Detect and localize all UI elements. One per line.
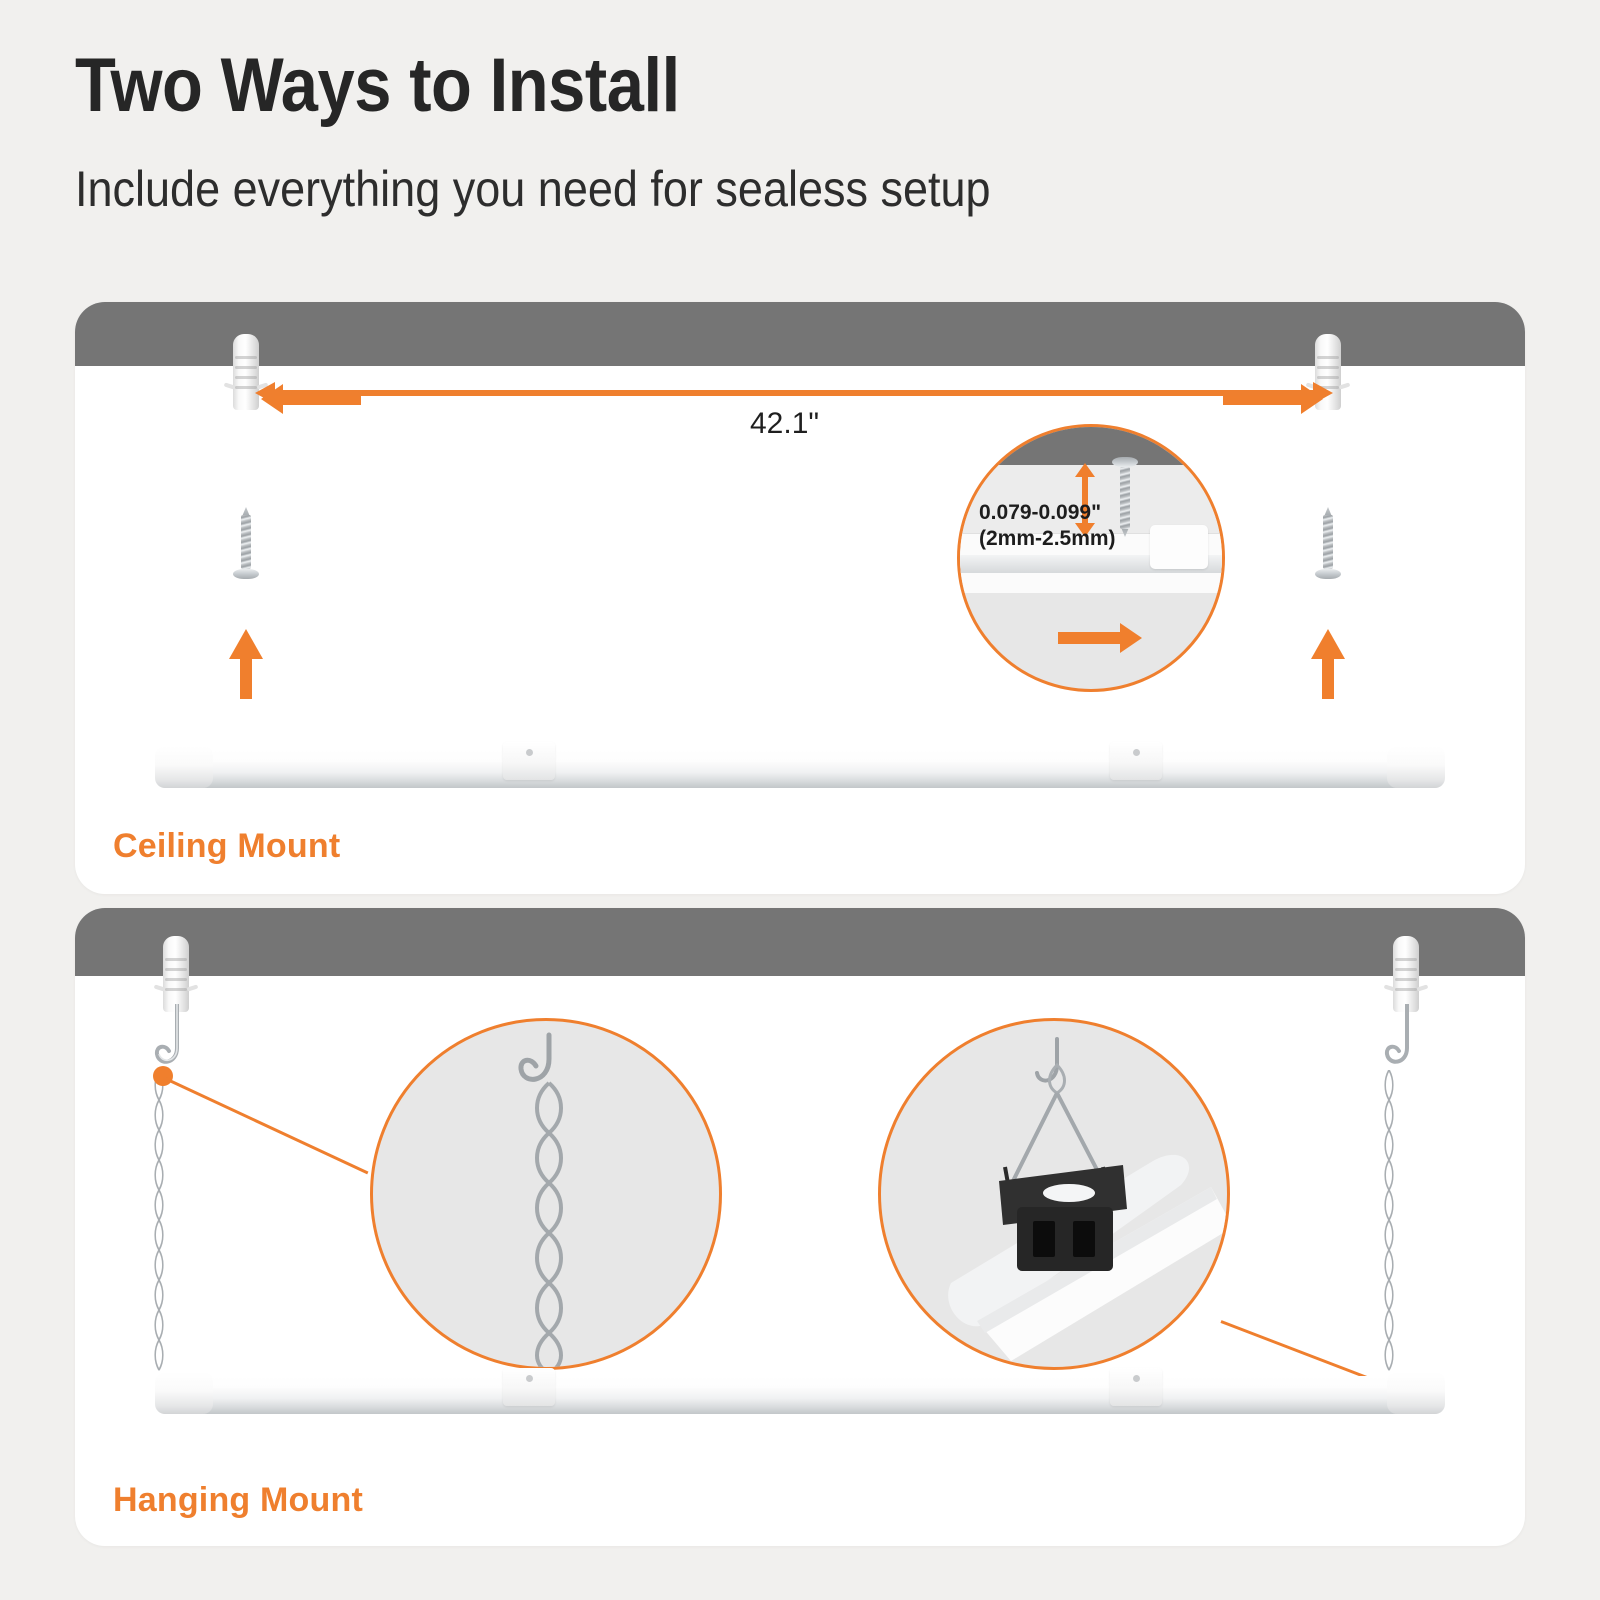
mounting-screw-right <box>1315 507 1341 579</box>
chain-detail-circle <box>370 1018 722 1370</box>
hanging-mount-label: Hanging Mount <box>113 1481 363 1520</box>
gap-detail-label: 0.079-0.099" (2mm-2.5mm) <box>979 500 1116 551</box>
hanging-mount-card: Hanging Mount <box>75 908 1525 1546</box>
page-subtitle: Include everything you need for sealess … <box>75 164 1389 214</box>
wall-anchor-hanging-left <box>163 936 189 1012</box>
ceiling-mount-label: Ceiling Mount <box>113 827 340 866</box>
page-title: Two Ways to Install <box>75 48 1360 124</box>
width-dimension-line <box>255 382 1333 404</box>
slide-direction-arrow <box>1058 623 1142 653</box>
ceiling-mount-card: 42.1" <box>75 302 1525 894</box>
detail-fixture-endcap <box>1150 525 1208 569</box>
install-direction-arrow-left <box>229 629 263 699</box>
gap-detail-circle <box>957 424 1225 692</box>
gap-detail-line2: (2mm-2.5mm) <box>979 526 1116 552</box>
mounting-screw-left <box>233 507 259 579</box>
ceiling-surface <box>75 302 1525 366</box>
chain-callout-leader <box>162 1076 368 1174</box>
led-fixture-hanging <box>155 1366 1445 1418</box>
screw-hook-right <box>1375 1004 1439 1078</box>
gap-detail-line1: 0.079-0.099" <box>979 500 1116 526</box>
fixture-clip-hanging-right <box>1110 1368 1162 1406</box>
fixture-clip-hanging-left <box>503 1368 555 1406</box>
fixture-clip-right <box>1110 742 1162 780</box>
hanging-chain-left <box>152 1070 166 1380</box>
detail-screw <box>1112 457 1138 537</box>
header: Two Ways to Install Include everything y… <box>75 48 1535 214</box>
infographic-page: Two Ways to Install Include everything y… <box>0 0 1600 1600</box>
bracket-detail-art <box>881 1021 1230 1370</box>
fixture-clip-left <box>503 742 555 780</box>
chain-detail-art <box>373 1021 722 1370</box>
led-fixture-ceiling <box>155 740 1445 792</box>
bracket-detail-circle <box>878 1018 1230 1370</box>
width-dimension-value: 42.1" <box>750 407 819 441</box>
hanging-chain-right <box>1382 1070 1396 1380</box>
wall-anchor-hanging-right <box>1393 936 1419 1012</box>
ceiling-surface-hanging <box>75 908 1525 976</box>
screw-hook-left <box>145 1004 209 1078</box>
install-direction-arrow-right <box>1311 629 1345 699</box>
detail-ceiling-surface <box>960 427 1222 465</box>
